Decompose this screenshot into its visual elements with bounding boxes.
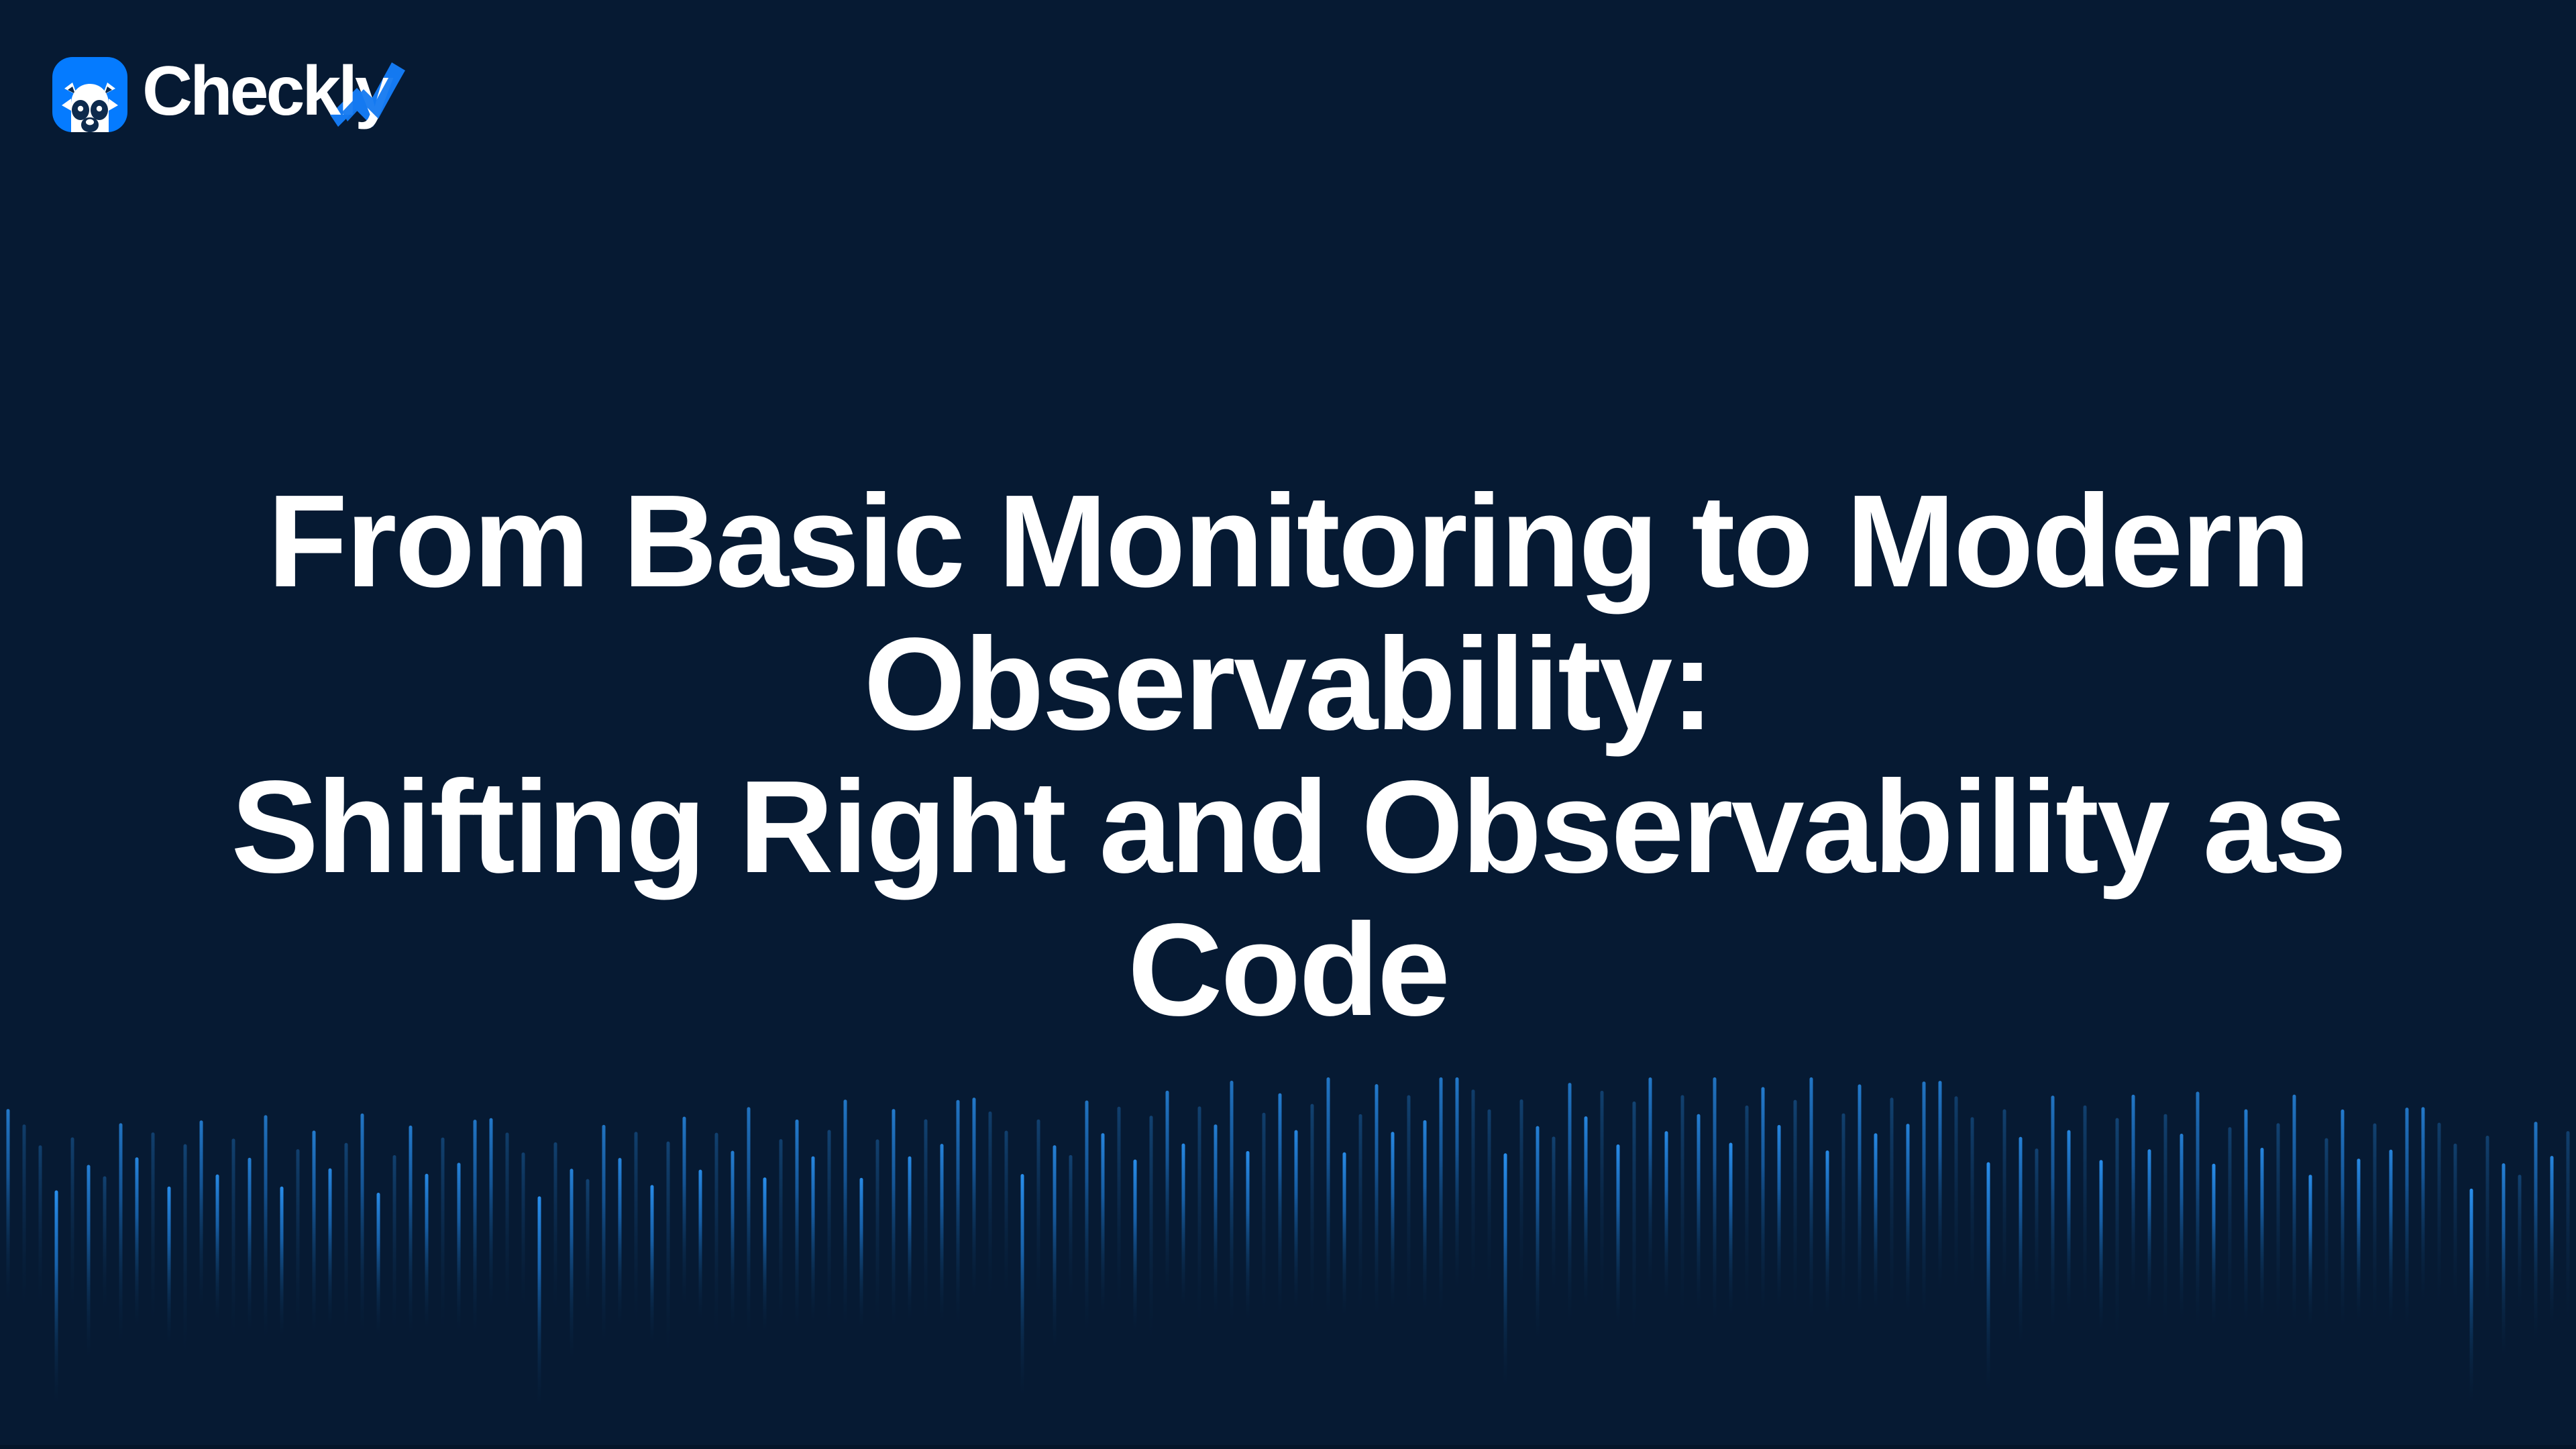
checkly-wordmark-svg: Checkly bbox=[142, 57, 405, 132]
waveform-bar bbox=[1359, 1114, 1362, 1311]
waveform-bar bbox=[2534, 1122, 2538, 1341]
waveform-bar bbox=[989, 1112, 992, 1303]
svg-text:Checkly: Checkly bbox=[142, 57, 394, 130]
waveform-bar bbox=[2180, 1134, 2184, 1320]
waveform-bar bbox=[1375, 1084, 1379, 1316]
waveform-bar bbox=[1665, 1131, 1668, 1301]
waveform-bar bbox=[7, 1109, 10, 1303]
waveform-bar bbox=[55, 1191, 58, 1404]
slide-bottom-edge bbox=[0, 1445, 2576, 1449]
waveform-bar bbox=[119, 1123, 123, 1342]
waveform-bar bbox=[1150, 1116, 1153, 1342]
waveform-bar bbox=[2132, 1095, 2135, 1295]
waveform-bar bbox=[2019, 1137, 2023, 1344]
waveform-bar bbox=[1890, 1097, 1894, 1311]
waveform-bar bbox=[87, 1165, 91, 1358]
waveform-bar bbox=[586, 1179, 590, 1313]
waveform-bar bbox=[2100, 1160, 2103, 1332]
waveform-bar bbox=[425, 1174, 429, 1328]
waveform-bar bbox=[1504, 1153, 1507, 1386]
waveform-bar bbox=[1085, 1101, 1089, 1332]
waveform-bar bbox=[474, 1120, 477, 1335]
waveform-bar bbox=[39, 1145, 42, 1305]
waveform-bar bbox=[2502, 1163, 2506, 1356]
waveform-bar bbox=[1424, 1120, 1427, 1311]
waveform-bar bbox=[458, 1163, 461, 1330]
waveform-bar bbox=[2164, 1114, 2167, 1328]
waveform-bar bbox=[313, 1130, 316, 1333]
waveform-bar bbox=[184, 1144, 187, 1355]
waveform-bar bbox=[216, 1175, 219, 1322]
waveform-bar bbox=[1971, 1117, 1974, 1292]
waveform-bar bbox=[152, 1132, 155, 1324]
waveform-bar bbox=[329, 1169, 332, 1328]
waveform-bar bbox=[1649, 1077, 1652, 1287]
waveform-bar bbox=[2551, 1156, 2554, 1325]
waveform-bar bbox=[1746, 1106, 1749, 1311]
waveform-bar bbox=[1279, 1093, 1282, 1316]
waveform-bar bbox=[1488, 1110, 1491, 1289]
waveform-bar bbox=[2277, 1123, 2280, 1323]
waveform-bar bbox=[1295, 1130, 1298, 1309]
waveform-bar bbox=[168, 1187, 171, 1344]
waveform-bar bbox=[71, 1138, 74, 1309]
waveform-bar bbox=[1391, 1132, 1395, 1308]
waveform-bar bbox=[1552, 1136, 1556, 1293]
checkly-wordmark: Checkly bbox=[142, 57, 405, 132]
waveform-bar bbox=[1987, 1163, 1990, 1391]
waveform-bar bbox=[1327, 1077, 1330, 1318]
waveform-bar bbox=[2261, 1148, 2264, 1318]
waveform-bar bbox=[1343, 1152, 1346, 1316]
waveform-bar bbox=[1762, 1087, 1765, 1313]
waveform-bar bbox=[136, 1157, 139, 1326]
waveform-bar bbox=[490, 1118, 493, 1308]
waveform-bar bbox=[1118, 1107, 1121, 1311]
waveform-bar bbox=[715, 1133, 718, 1336]
waveform-bar bbox=[2116, 1118, 2119, 1343]
waveform-bar bbox=[780, 1139, 783, 1327]
waveform-bar bbox=[522, 1152, 525, 1309]
waveform-bar bbox=[297, 1149, 300, 1332]
waveform-bar bbox=[2212, 1164, 2216, 1326]
waveform-bar bbox=[828, 1130, 831, 1326]
waveform-bar bbox=[1021, 1174, 1024, 1396]
waveform-bar bbox=[2373, 1124, 2377, 1324]
waveform-bar bbox=[506, 1132, 509, 1312]
waveform-bars bbox=[7, 1077, 2570, 1407]
waveform-bar bbox=[619, 1158, 622, 1326]
waveform-bar bbox=[796, 1120, 799, 1328]
waveform-bar bbox=[103, 1177, 107, 1312]
waveform-bar bbox=[2229, 1127, 2232, 1322]
title-line-4: Code bbox=[221, 898, 2355, 1041]
waveform-bar bbox=[2003, 1110, 2006, 1296]
audio-waveform-icon bbox=[0, 1073, 2576, 1449]
waveform-bar bbox=[1955, 1096, 1958, 1295]
waveform-bar bbox=[554, 1142, 557, 1311]
waveform-bar bbox=[1842, 1114, 1845, 1311]
waveform-bar bbox=[1858, 1085, 1862, 1316]
waveform-bar bbox=[361, 1114, 364, 1333]
waveform-bar bbox=[1713, 1077, 1717, 1324]
waveform-bar bbox=[2245, 1110, 2248, 1324]
waveform-bar bbox=[570, 1169, 574, 1359]
waveform-bar bbox=[1874, 1133, 1878, 1309]
waveform-bar bbox=[1729, 1143, 1733, 1316]
waveform-bar bbox=[2454, 1144, 2457, 1305]
waveform-bar bbox=[908, 1157, 912, 1320]
waveform-bar bbox=[812, 1157, 815, 1322]
waveform-bar bbox=[1037, 1120, 1040, 1301]
waveform-bar bbox=[1778, 1125, 1781, 1307]
waveform-bar bbox=[2486, 1136, 2489, 1308]
waveform-bar bbox=[200, 1120, 203, 1307]
waveform-bar bbox=[2341, 1110, 2345, 1328]
waveform-bar bbox=[248, 1158, 252, 1331]
waveform-bar bbox=[1601, 1091, 1604, 1304]
waveform-bar bbox=[731, 1151, 735, 1328]
waveform-bar bbox=[1311, 1104, 1314, 1314]
raccoon-logo-icon bbox=[52, 57, 127, 132]
waveform-bar bbox=[1134, 1160, 1137, 1332]
waveform-bar bbox=[667, 1142, 670, 1354]
waveform-bar bbox=[973, 1097, 976, 1298]
waveform-bar bbox=[1907, 1124, 1910, 1312]
waveform-bar bbox=[1794, 1100, 1797, 1312]
waveform-bar bbox=[1585, 1116, 1588, 1306]
waveform-bar bbox=[1810, 1077, 1813, 1320]
waveform-bar bbox=[1166, 1091, 1169, 1294]
waveform-bar bbox=[1939, 1081, 1942, 1290]
waveform-bar bbox=[264, 1115, 268, 1338]
checkly-logo: Checkly bbox=[52, 55, 405, 134]
waveform-bar bbox=[2406, 1108, 2409, 1329]
waveform-bar bbox=[1633, 1102, 1636, 1335]
waveform-bar bbox=[2470, 1189, 2473, 1403]
waveform-bar bbox=[1681, 1095, 1684, 1319]
waveform-bar bbox=[957, 1100, 960, 1326]
waveform-bar bbox=[393, 1155, 396, 1331]
waveform-bar bbox=[1053, 1145, 1057, 1348]
waveform-bar bbox=[1440, 1077, 1443, 1315]
waveform-bar bbox=[23, 1124, 26, 1308]
waveform-bar bbox=[1456, 1077, 1459, 1290]
waveform-bar bbox=[232, 1138, 235, 1338]
waveform-bar bbox=[1214, 1124, 1218, 1315]
waveform-bar bbox=[538, 1196, 541, 1406]
waveform-bar bbox=[2084, 1106, 2087, 1311]
waveform-bar bbox=[1568, 1083, 1572, 1323]
waveform-bar bbox=[2309, 1175, 2312, 1326]
waveform-bar bbox=[876, 1140, 879, 1324]
waveform-bar bbox=[1263, 1113, 1266, 1315]
title-line-2: Observability: bbox=[221, 612, 2355, 755]
waveform-bar bbox=[2438, 1123, 2441, 1308]
waveform-bar bbox=[1472, 1089, 1475, 1292]
waveform-bar bbox=[1182, 1144, 1185, 1307]
waveform-bar bbox=[1520, 1099, 1523, 1291]
waveform-bar bbox=[747, 1107, 751, 1334]
waveform-bar bbox=[1923, 1081, 1926, 1317]
waveform-bar bbox=[844, 1099, 847, 1326]
waveform-bar bbox=[2051, 1095, 2055, 1329]
waveform-bar bbox=[1826, 1150, 1829, 1315]
waveform-bar bbox=[377, 1193, 380, 1335]
page-title: From Basic Monitoring to Modern Observab… bbox=[221, 470, 2355, 1041]
waveform-bar bbox=[1230, 1081, 1234, 1322]
waveform-bar bbox=[1198, 1106, 1201, 1324]
waveform-bar bbox=[1536, 1126, 1540, 1340]
waveform-bar bbox=[280, 1187, 284, 1336]
waveform-bar bbox=[2567, 1131, 2570, 1323]
waveform-bar bbox=[2148, 1149, 2151, 1309]
waveform-bar bbox=[1407, 1095, 1411, 1311]
waveform-bar bbox=[2390, 1150, 2393, 1325]
waveform-bar bbox=[2035, 1148, 2039, 1298]
waveform-bar bbox=[2325, 1138, 2328, 1324]
title-slide: Checkly From Basic Monitoring to Modern … bbox=[0, 0, 2576, 1449]
waveform-bar bbox=[924, 1120, 928, 1322]
waveform-bar bbox=[2518, 1175, 2522, 1311]
waveform-bar bbox=[651, 1185, 654, 1344]
title-line-1: From Basic Monitoring to Modern bbox=[221, 470, 2355, 612]
waveform-bar bbox=[1617, 1144, 1620, 1324]
waveform-bar bbox=[892, 1109, 896, 1327]
waveform-bar bbox=[2293, 1095, 2296, 1324]
waveform-bar bbox=[2422, 1107, 2425, 1302]
waveform-bar bbox=[441, 1138, 445, 1330]
waveform-bar bbox=[763, 1177, 767, 1332]
waveform-bar bbox=[1005, 1131, 1008, 1299]
waveform-bar bbox=[1069, 1155, 1073, 1301]
waveform-bar bbox=[602, 1125, 606, 1343]
waveform-bar bbox=[860, 1178, 863, 1328]
waveform-bar bbox=[635, 1132, 638, 1324]
waveform-bar bbox=[1102, 1133, 1105, 1314]
waveform-bar bbox=[2068, 1130, 2071, 1313]
waveform-bar bbox=[345, 1143, 348, 1332]
waveform-bar bbox=[699, 1170, 702, 1320]
waveform-bar bbox=[1697, 1114, 1701, 1311]
waveform-bar bbox=[941, 1144, 944, 1322]
waveform-bar bbox=[2357, 1159, 2361, 1321]
waveform-bar bbox=[409, 1126, 413, 1335]
waveform-bar bbox=[683, 1117, 686, 1306]
waveform-bar bbox=[2196, 1091, 2200, 1327]
title-line-3: Shifting Right and Observability as bbox=[221, 755, 2355, 898]
waveform-bar bbox=[1246, 1151, 1250, 1320]
